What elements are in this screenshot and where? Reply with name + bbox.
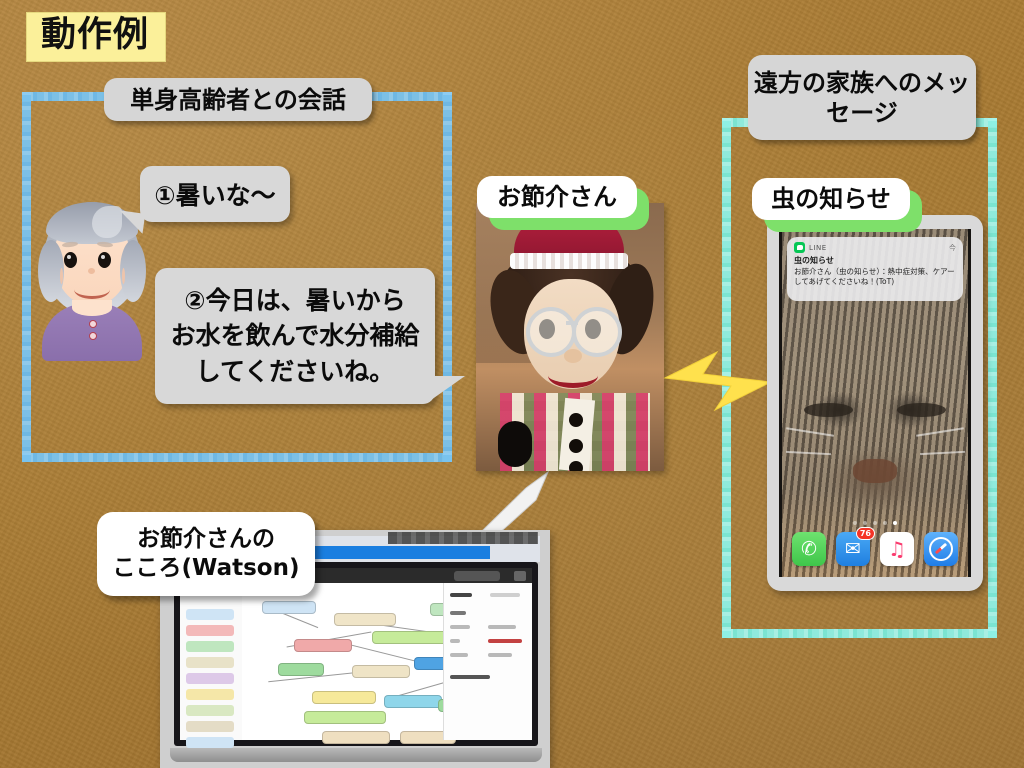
label-family-message-group: 遠方の家族へのメッセージ: [748, 55, 976, 140]
page-title-text: 動作例: [41, 17, 149, 54]
mail-badge-count: 76: [856, 527, 875, 540]
compass-icon: [929, 537, 953, 561]
home-page-dots: [782, 521, 968, 525]
node-red-flow-canvas: [242, 583, 444, 740]
speech-bubble-assistant: ②今日は、暑いから お水を飲んで水分補給 してくださいね。: [155, 268, 435, 404]
phone-glyph: ✆: [801, 540, 817, 559]
page-dot: [873, 521, 877, 525]
page-dot-active: [893, 521, 897, 525]
assistant-line-3: してくださいね。: [196, 354, 395, 390]
bubble-tail-icon: [117, 210, 146, 233]
label-mushi-no-shirase: 虫の知らせ: [752, 178, 910, 220]
label-osekkai-kokoro: お節介さんの こころ(Watson): [97, 512, 315, 596]
lightning-arrow-icon: [663, 348, 775, 414]
phone-app-icon[interactable]: ✆: [792, 532, 826, 566]
mail-glyph: ✉: [845, 540, 861, 559]
notification-header: LINE 今: [794, 242, 956, 253]
page-dot: [863, 521, 867, 525]
notification-title: 虫の知らせ: [794, 255, 956, 266]
label-osekkai: お節介さん: [477, 176, 637, 218]
notification-body: お節介さん（虫の知らせ）：熱中症対策、ケアーしてあげてくださいね！(ToT): [794, 267, 956, 287]
music-glyph: ♫: [888, 539, 906, 559]
label-conversation-group: 単身高齢者との会話: [104, 78, 372, 121]
safari-app-icon[interactable]: [924, 532, 958, 566]
page-title: 動作例: [26, 12, 166, 62]
kokoro-line-1: お節介さんの: [113, 525, 300, 554]
notification-app-name: LINE: [809, 244, 827, 252]
speech-bubble-elderly: ①暑いな〜: [140, 166, 290, 222]
smartphone-photo: LINE 今 虫の知らせ お節介さん（虫の知らせ）：熱中症対策、ケアーしてあげて…: [767, 215, 983, 591]
speech-bubble-elderly-text: ①暑いな〜: [154, 176, 275, 212]
assistant-line-1: ②今日は、暑いから: [184, 283, 405, 319]
notification-time: 今: [949, 243, 956, 253]
phone-screen: LINE 今 虫の知らせ お節介さん（虫の知らせ）：熱中症対策、ケアーしてあげて…: [779, 229, 971, 577]
kokoro-line-2: こころ(Watson): [113, 554, 300, 583]
node-red-info-sidebar: [443, 583, 532, 740]
node-red-palette: [180, 583, 243, 740]
line-notification[interactable]: LINE 今 虫の知らせ お節介さん（虫の知らせ）：熱中症対策、ケアーしてあげて…: [787, 237, 963, 301]
page-dot: [883, 521, 887, 525]
puppet-photo: [476, 203, 664, 471]
iphone-dock: ✆ ✉ 76 ♫: [782, 527, 968, 571]
music-app-icon[interactable]: ♫: [880, 532, 914, 566]
mail-app-icon[interactable]: ✉ 76: [836, 532, 870, 566]
slide-canvas: 動作例 単身高齢者との会話 遠方の家族へのメッセージ ①暑いな〜 ②今日は、暑い…: [0, 0, 1024, 768]
line-app-icon: [794, 242, 805, 253]
assistant-line-2: お水を飲んで水分補給: [171, 318, 420, 354]
page-dot: [853, 521, 857, 525]
bubble-tail-icon: [431, 376, 465, 400]
